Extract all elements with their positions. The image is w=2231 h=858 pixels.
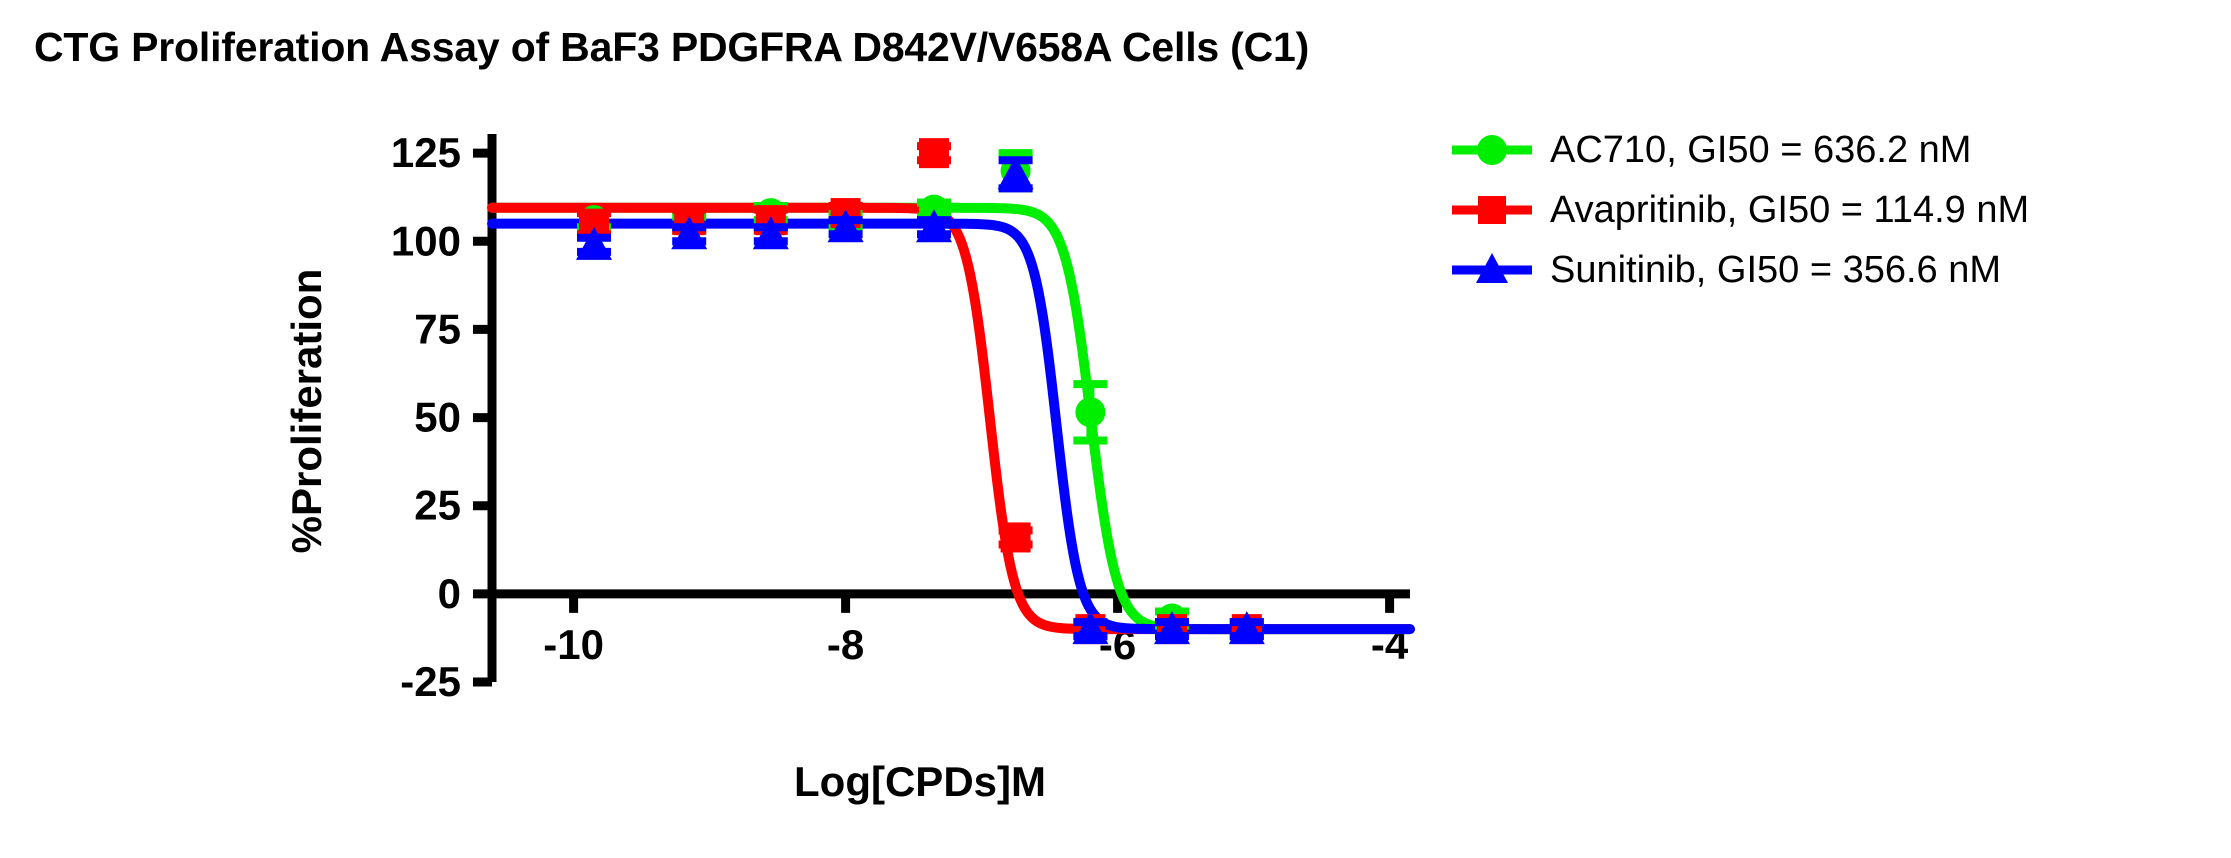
x-tick-label: -10 [543,621,604,668]
curve-sunitinib [492,224,1410,629]
y-tick-label: 25 [414,482,461,529]
chart-figure: CTG Proliferation Assay of BaF3 PDGFRA D… [0,0,2231,858]
legend-item-ac710[interactable]: AC710, GI50 = 636.2 nM [1448,120,2208,180]
curve-avapritinib [492,208,1410,629]
y-tick-label: 125 [391,129,461,176]
legend-marker-square-icon [1448,187,1536,233]
data-point-square[interactable] [1001,522,1031,552]
legend-item-avapritinib[interactable]: Avapritinib, GI50 = 114.9 nM [1448,180,2208,240]
y-tick-label: 50 [414,394,461,441]
legend-marker-triangle-icon [1448,247,1536,293]
y-tick-label: 0 [438,570,461,617]
legend-label-avapritinib: Avapritinib, GI50 = 114.9 nM [1550,189,2029,232]
y-axis-title: %Proliferation [283,269,330,554]
chart-legend: AC710, GI50 = 636.2 nM Avapritinib, GI50… [1448,120,2208,300]
legend-item-sunitinib[interactable]: Sunitinib, GI50 = 356.6 nM [1448,240,2208,300]
y-tick-label: 75 [414,305,461,352]
legend-marker-circle-icon [1448,127,1536,173]
curve-ac710 [492,208,1410,629]
legend-label-ac710: AC710, GI50 = 636.2 nM [1550,129,1971,172]
y-tick-label: 100 [391,217,461,264]
series-points-sunitinib [576,156,1265,644]
x-axis-title: Log[CPDs]M [794,758,1046,805]
y-tick-label: -25 [400,658,461,705]
x-tick-label: -8 [827,621,864,668]
data-point-square[interactable] [919,138,949,168]
data-point-circle[interactable] [1075,397,1105,427]
legend-label-sunitinib: Sunitinib, GI50 = 356.6 nM [1550,249,2001,292]
